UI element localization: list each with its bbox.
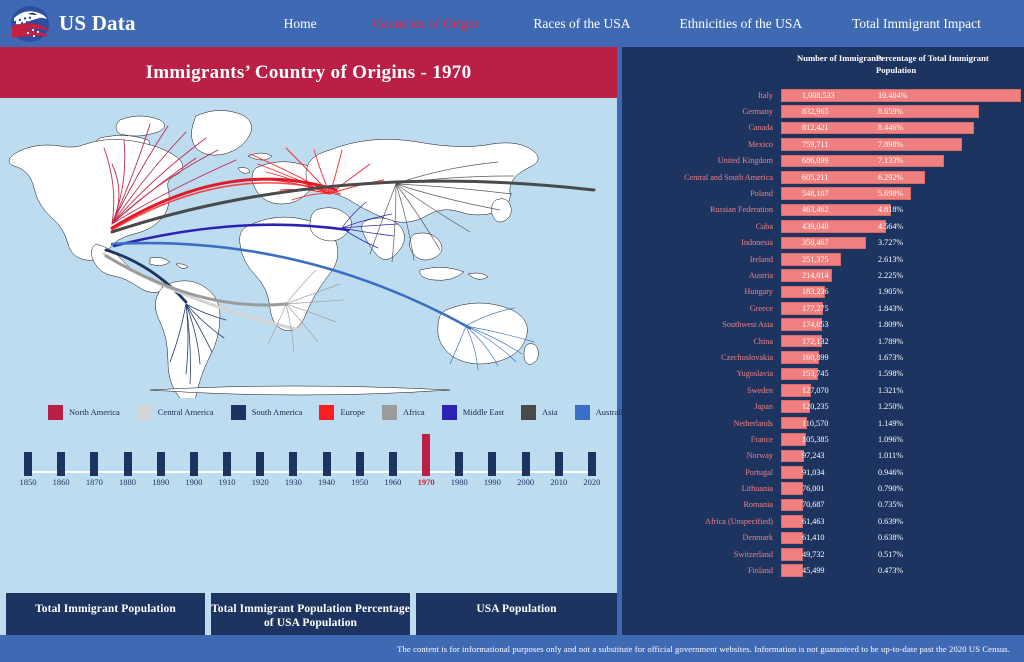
country-bar-chart-panel: Number of Immigrants Percentage of Total… — [622, 47, 1024, 635]
row-percentage: 1.598% — [878, 366, 903, 382]
row-country-label: China — [622, 333, 777, 349]
table-row[interactable]: Austria214,0142.225% — [622, 267, 1024, 283]
column-header-number-of-immigrants: Number of Immigrants — [797, 53, 882, 65]
year-timeline-slider[interactable]: 1850 1860 1870 1880 1890 1900 1910 1920 … — [0, 426, 617, 496]
legend-label: Central America — [158, 407, 214, 417]
legend-item-central-america[interactable]: Central America — [137, 405, 214, 420]
row-percentage: 3.727% — [878, 235, 903, 251]
legend-swatch-icon — [521, 405, 536, 420]
timeline-bar-1990[interactable] — [488, 452, 496, 476]
row-percentage: 1.321% — [878, 382, 903, 398]
table-row[interactable]: Denmark61,4100.638% — [622, 530, 1024, 546]
row-percentage: 1.905% — [878, 284, 903, 300]
row-number-of-immigrants: 76,001 — [802, 480, 825, 496]
table-row[interactable]: Russian Federation463,4624.818% — [622, 202, 1024, 218]
legend-label: Africa — [403, 407, 425, 417]
table-row[interactable]: Ireland251,3752.613% — [622, 251, 1024, 267]
timeline-bar-1870[interactable] — [90, 452, 98, 476]
row-country-label: Sweden — [622, 382, 777, 398]
row-country-label: Central and South America — [622, 169, 777, 185]
eagle-flag-logo-icon — [8, 4, 52, 44]
nav-links: Home Countries of Origin Races of the US… — [284, 12, 981, 36]
brand[interactable]: US Data — [8, 4, 136, 44]
legend-label: Europe — [340, 407, 365, 417]
title-band: Immigrants’ Country of Origins - 1970 — [0, 47, 617, 98]
row-number-of-immigrants: 251,375 — [802, 251, 829, 267]
row-percentage: 0.946% — [878, 464, 903, 480]
country-rows: Italy1,008,53310.484%Germany832,9658.659… — [622, 85, 1024, 579]
legend-swatch-icon — [137, 405, 152, 420]
timeline-bar-1960[interactable] — [389, 452, 397, 476]
row-bar[interactable] — [781, 466, 803, 479]
legend-item-north-america[interactable]: North America — [48, 405, 120, 420]
left-panel: Immigrants’ Country of Origins - 1970 — [0, 47, 617, 635]
timeline-bar-1850[interactable] — [24, 452, 32, 476]
row-number-of-immigrants: 105,385 — [802, 431, 829, 447]
row-number-of-immigrants: 686,099 — [802, 153, 829, 169]
legend-swatch-icon — [442, 405, 457, 420]
row-percentage: 1.789% — [878, 333, 903, 349]
table-row[interactable]: Italy1,008,53310.484% — [622, 87, 1024, 103]
legend-item-africa[interactable]: Africa — [382, 405, 425, 420]
row-country-label: Ireland — [622, 251, 777, 267]
row-percentage: 0.473% — [878, 562, 903, 578]
row-bar[interactable] — [781, 499, 803, 512]
row-number-of-immigrants: 61,463 — [802, 513, 825, 529]
row-percentage: 1.011% — [878, 448, 903, 464]
legend-swatch-icon — [319, 405, 334, 420]
row-bar[interactable] — [781, 515, 803, 528]
row-number-of-immigrants: 174,053 — [802, 316, 829, 332]
row-percentage: 1.809% — [878, 316, 903, 332]
row-country-label: Cuba — [622, 218, 777, 234]
brand-name: US Data — [59, 11, 136, 36]
footer: The content is for informational purpose… — [0, 635, 1024, 662]
row-number-of-immigrants: 127,070 — [802, 382, 829, 398]
nav-link-countries-of-origin[interactable]: Countries of Origin — [373, 12, 479, 36]
row-percentage: 2.225% — [878, 267, 903, 283]
row-bar[interactable] — [781, 204, 891, 217]
table-row[interactable]: China172,1321.789% — [622, 333, 1024, 349]
timeline-bar-2010[interactable] — [555, 452, 563, 476]
row-number-of-immigrants: 160,899 — [802, 349, 829, 365]
row-percentage: 7.133% — [878, 153, 903, 169]
footer-disclaimer: The content is for informational purpose… — [397, 644, 1010, 654]
row-percentage: 0.638% — [878, 530, 903, 546]
row-bar[interactable] — [781, 532, 803, 545]
row-number-of-immigrants: 120,235 — [802, 398, 829, 414]
table-row[interactable]: Cuba439,0484.564% — [622, 218, 1024, 234]
legend-label: Middle East — [463, 407, 504, 417]
nav-link-total-immigrant-impact[interactable]: Total Immigrant Impact — [852, 12, 981, 36]
row-country-label: United Kingdom — [622, 153, 777, 169]
table-row[interactable]: Portugal91,0340.946% — [622, 464, 1024, 480]
row-percentage: 0.639% — [878, 513, 903, 529]
table-row[interactable]: Indonesia358,4673.727% — [622, 235, 1024, 251]
table-row[interactable]: Germany832,9658.659% — [622, 103, 1024, 119]
row-number-of-immigrants: 832,965 — [802, 103, 829, 119]
row-country-label: Russian Federation — [622, 202, 777, 218]
row-percentage: 1.673% — [878, 349, 903, 365]
table-row[interactable]: Czechoslovakia160,8991.673% — [622, 349, 1024, 365]
row-bar[interactable] — [781, 564, 803, 577]
row-country-label: Canada — [622, 120, 777, 136]
timeline-bar-1860[interactable] — [57, 452, 65, 476]
table-row[interactable]: Japan120,2351.250% — [622, 398, 1024, 414]
map-svg — [0, 98, 617, 398]
timeline-bar-1920[interactable] — [256, 452, 264, 476]
row-country-label: Japan — [622, 398, 777, 414]
row-percentage: 10.484% — [878, 87, 907, 103]
kpi-label: Total Immigrant Population Percentage of… — [211, 602, 410, 631]
row-number-of-immigrants: 70,687 — [802, 497, 825, 513]
dashboard-page: US Data Home Countries of Origin Races o… — [0, 0, 1024, 662]
row-number-of-immigrants: 172,132 — [802, 333, 829, 349]
timeline-bar-1950[interactable] — [356, 452, 364, 476]
table-row[interactable]: France105,3851.096% — [622, 431, 1024, 447]
row-country-label: Denmark — [622, 530, 777, 546]
timeline-bar-1910[interactable] — [223, 452, 231, 476]
row-country-label: Norway — [622, 448, 777, 464]
table-row[interactable]: Central and South America605,2116.292% — [622, 169, 1024, 185]
row-number-of-immigrants: 110,570 — [802, 415, 828, 431]
legend-item-europe[interactable]: Europe — [319, 405, 365, 420]
row-percentage: 2.613% — [878, 251, 903, 267]
timeline-bar-1900[interactable] — [190, 452, 198, 476]
table-row[interactable]: Southwest Asia174,0531.809% — [622, 316, 1024, 332]
row-number-of-immigrants: 97,243 — [802, 448, 825, 464]
table-row[interactable]: Canada812,4218.446% — [622, 120, 1024, 136]
row-number-of-immigrants: 177,275 — [802, 300, 829, 316]
timeline-bar-1880[interactable] — [124, 452, 132, 476]
row-number-of-immigrants: 463,462 — [802, 202, 829, 218]
legend-item-australia[interactable]: Australia — [575, 405, 627, 420]
timeline-bar-2000[interactable] — [522, 452, 530, 476]
table-row[interactable]: Hungary183,2361.905% — [622, 284, 1024, 300]
row-bar[interactable] — [781, 220, 886, 233]
timeline-bar-2020[interactable] — [588, 452, 596, 476]
row-number-of-immigrants: 49,732 — [802, 546, 825, 562]
row-number-of-immigrants: 153,745 — [802, 366, 829, 382]
table-row[interactable]: Yugoslavia153,7451.598% — [622, 366, 1024, 382]
row-country-label: Poland — [622, 185, 777, 201]
row-country-label: Netherlands — [622, 415, 777, 431]
row-percentage: 1.250% — [878, 398, 903, 414]
nav-link-home[interactable]: Home — [284, 12, 317, 36]
table-row[interactable]: Switzerland49,7320.517% — [622, 546, 1024, 562]
row-country-label: Yugoslavia — [622, 366, 777, 382]
legend-item-asia[interactable]: Asia — [521, 405, 558, 420]
row-number-of-immigrants: 605,211 — [802, 169, 828, 185]
table-row[interactable]: Africa (Unspecified)61,4630.639% — [622, 513, 1024, 529]
timeline-bar-1940[interactable] — [323, 452, 331, 476]
row-number-of-immigrants: 759,711 — [802, 136, 828, 152]
table-row[interactable]: Greece177,2751.843% — [622, 300, 1024, 316]
row-percentage: 0.517% — [878, 546, 903, 562]
row-country-label: Switzerland — [622, 546, 777, 562]
row-percentage: 6.292% — [878, 169, 903, 185]
row-percentage: 0.790% — [878, 480, 903, 496]
row-percentage: 8.446% — [878, 120, 903, 136]
row-number-of-immigrants: 812,421 — [802, 120, 829, 136]
row-bar[interactable] — [781, 548, 803, 561]
row-percentage: 0.735% — [878, 497, 903, 513]
legend-label: North America — [69, 407, 120, 417]
row-country-label: Finland — [622, 562, 777, 578]
timeline-bar-1970-selected[interactable] — [422, 434, 430, 476]
row-country-label: Germany — [622, 103, 777, 119]
table-row[interactable]: Mexico759,7117.898% — [622, 136, 1024, 152]
row-number-of-immigrants: 1,008,533 — [802, 87, 835, 103]
row-percentage: 1.843% — [878, 300, 903, 316]
row-country-label: Indonesia — [622, 235, 777, 251]
timeline-bars — [24, 426, 596, 476]
row-country-label: Romania — [622, 497, 777, 513]
row-country-label: Lithuania — [622, 480, 777, 496]
legend-swatch-icon — [48, 405, 63, 420]
row-country-label: Italy — [622, 87, 777, 103]
row-number-of-immigrants: 439,048 — [802, 218, 829, 234]
timeline-bar-1930[interactable] — [289, 452, 297, 476]
row-number-of-immigrants: 91,034 — [802, 464, 825, 480]
top-navbar: US Data Home Countries of Origin Races o… — [0, 0, 1024, 47]
legend-swatch-icon — [382, 405, 397, 420]
row-country-label: France — [622, 431, 777, 447]
row-percentage: 4.564% — [878, 218, 903, 234]
page-title: Immigrants’ Country of Origins - 1970 — [146, 62, 472, 84]
row-percentage: 1.149% — [878, 415, 903, 431]
row-percentage: 8.659% — [878, 103, 903, 119]
row-number-of-immigrants: 358,467 — [802, 235, 829, 251]
column-headers: Number of Immigrants Percentage of Total… — [622, 47, 1024, 85]
column-header-percentage: Percentage of Total Immigrant Population — [876, 53, 1024, 76]
kpi-label: USA Population — [476, 602, 556, 616]
table-row[interactable]: United Kingdom686,0997.133% — [622, 153, 1024, 169]
legend-item-middle-east[interactable]: Middle East — [442, 405, 504, 420]
row-number-of-immigrants: 183,236 — [802, 284, 829, 300]
row-percentage: 5.698% — [878, 185, 903, 201]
legend-label: South America — [252, 407, 303, 417]
map-legend: North America Central America South Amer… — [0, 398, 617, 426]
row-percentage: 4.818% — [878, 202, 903, 218]
row-country-label: Africa (Unspecified) — [622, 513, 777, 529]
table-row[interactable]: Poland548,1075.698% — [622, 185, 1024, 201]
legend-label: Asia — [542, 407, 558, 417]
legend-swatch-icon — [575, 405, 590, 420]
row-country-label: Czechoslovakia — [622, 349, 777, 365]
legend-item-south-america[interactable]: South America — [231, 405, 303, 420]
row-number-of-immigrants: 214,014 — [802, 267, 829, 283]
row-number-of-immigrants: 61,410 — [802, 530, 825, 546]
row-country-label: Southwest Asia — [622, 316, 777, 332]
world-migration-map[interactable] — [0, 98, 617, 398]
table-row[interactable]: Norway97,2431.011% — [622, 448, 1024, 464]
row-bar[interactable] — [781, 450, 804, 463]
table-row[interactable]: Lithuania76,0010.790% — [622, 480, 1024, 496]
kpi-label: Total Immigrant Population — [35, 602, 176, 616]
legend-swatch-icon — [231, 405, 246, 420]
timeline-bar-1890[interactable] — [157, 452, 165, 476]
row-country-label: Portugal — [622, 464, 777, 480]
row-number-of-immigrants: 548,107 — [802, 185, 829, 201]
row-percentage: 7.898% — [878, 136, 903, 152]
table-row[interactable]: Sweden127,0701.321% — [622, 382, 1024, 398]
row-country-label: Mexico — [622, 136, 777, 152]
table-row[interactable]: Netherlands110,5701.149% — [622, 415, 1024, 431]
row-country-label: Greece — [622, 300, 777, 316]
row-country-label: Hungary — [622, 284, 777, 300]
nav-link-races-of-the-usa[interactable]: Races of the USA — [533, 12, 630, 36]
row-percentage: 1.096% — [878, 431, 903, 447]
timeline-bar-1980[interactable] — [455, 452, 463, 476]
table-row[interactable]: Finland45,4990.473% — [622, 562, 1024, 578]
table-row[interactable]: Romania70,6870.735% — [622, 497, 1024, 513]
nav-link-ethnicities-of-the-usa[interactable]: Ethnicities of the USA — [680, 12, 803, 36]
row-number-of-immigrants: 45,499 — [802, 562, 825, 578]
row-bar[interactable] — [781, 482, 803, 495]
row-country-label: Austria — [622, 267, 777, 283]
